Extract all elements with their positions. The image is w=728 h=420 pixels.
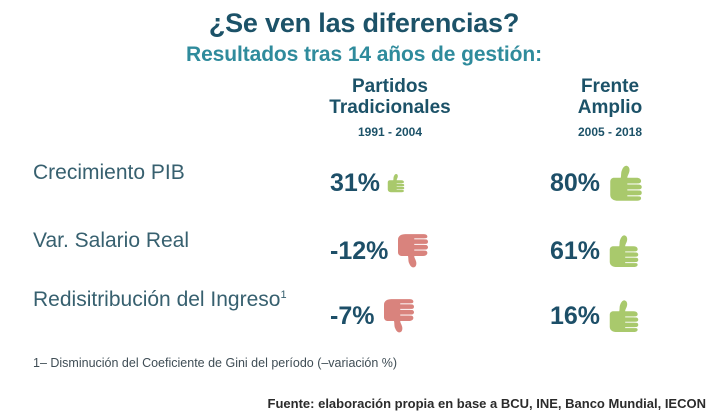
table-row: Crecimiento PIB 31% 80%: [0, 160, 728, 212]
row-value: 31%: [330, 169, 380, 198]
infographic-slide: ¿Se ven las diferencias? Resultados tras…: [0, 0, 728, 420]
column-header-line2: Amplio: [520, 97, 700, 118]
thumbs-up-icon: [605, 162, 647, 204]
column-header-frente-amplio: Frente Amplio 2005 - 2018: [520, 76, 700, 139]
row-cell-frente-amplio: 61%: [520, 228, 720, 274]
row-value: 61%: [550, 237, 600, 266]
table-row: Var. Salario Real -12% 61%: [0, 228, 728, 280]
thumbs-down-icon: [393, 231, 433, 271]
row-value: -12%: [330, 237, 388, 266]
column-header-years: 1991 - 2004: [300, 125, 480, 139]
row-label: Redisitribución del Ingreso1: [33, 283, 298, 312]
row-cell-frente-amplio: 16%: [520, 293, 720, 339]
thumbs-up-icon: [605, 297, 643, 335]
column-header-line1: Frente: [520, 76, 700, 97]
page-title: ¿Se ven las diferencias?: [0, 8, 728, 39]
footnote-marker: 1: [280, 289, 286, 301]
table-row: Redisitribución del Ingreso1 -7% 16%: [0, 283, 728, 345]
row-value: 80%: [550, 169, 600, 198]
footnote: 1– Disminución del Coeficiente de Gini d…: [33, 356, 397, 370]
row-cell-partidos-tradicionales: -12%: [300, 228, 490, 274]
row-cell-partidos-tradicionales: -7%: [300, 293, 490, 339]
page-subtitle: Resultados tras 14 años de gestión:: [0, 43, 728, 67]
row-label: Crecimiento PIB: [33, 160, 298, 185]
row-cell-frente-amplio: 80%: [520, 160, 720, 206]
column-header-line1: Partidos: [300, 76, 480, 97]
column-header-line2: Tradicionales: [300, 97, 480, 118]
source-line: Fuente: elaboración propia en base a BCU…: [0, 396, 716, 411]
column-header-partidos-tradicionales: Partidos Tradicionales 1991 - 2004: [300, 76, 480, 139]
row-cell-partidos-tradicionales: 31%: [300, 160, 490, 206]
thumbs-down-icon: [379, 296, 419, 336]
thumbs-up-icon: [605, 232, 643, 270]
row-value: 16%: [550, 302, 600, 331]
row-label: Var. Salario Real: [33, 228, 298, 253]
row-value: -7%: [330, 302, 374, 331]
thumbs-up-icon: [385, 172, 407, 194]
column-header-years: 2005 - 2018: [520, 125, 700, 139]
